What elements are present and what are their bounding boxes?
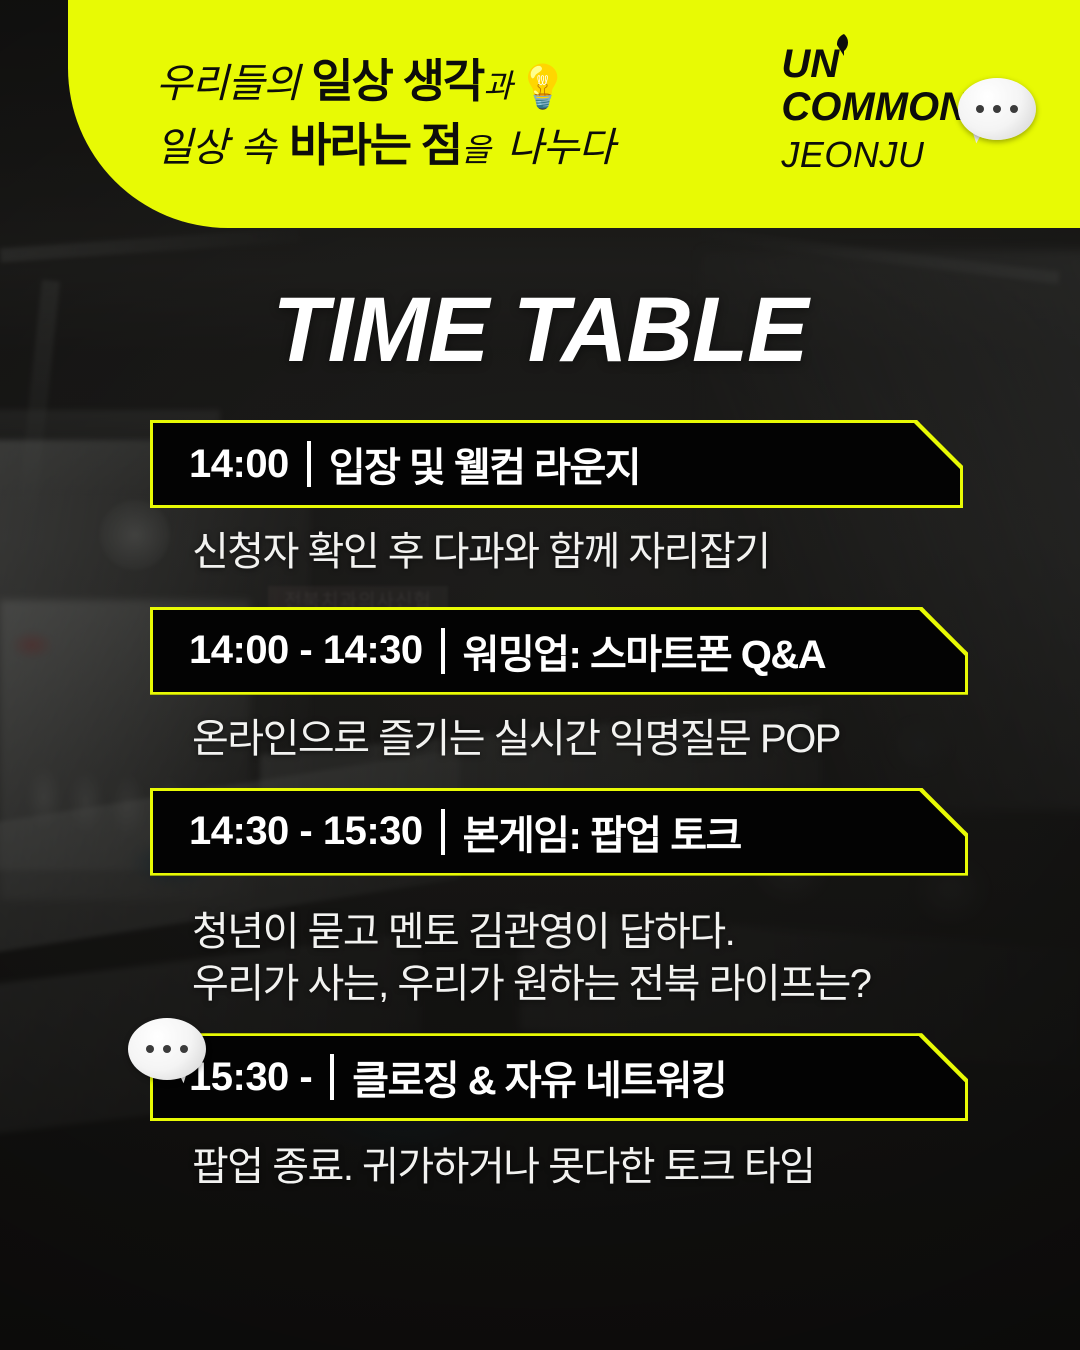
timetable-poster: 전북치과의사신협 우리들의일상 생각과💡 일상 속바라는 점을나누다 UN — [0, 0, 1080, 1350]
speech-bubble-dots — [128, 1018, 206, 1080]
logo-common-text: COMMON — [781, 84, 968, 130]
schedule-description: 팝업 종료. 귀가하거나 못다한 토크 타임 — [192, 1141, 1080, 1194]
page-title: TIME TABLE — [0, 278, 1080, 383]
comma-accent-icon — [833, 34, 855, 56]
header-panel: 우리들의일상 생각과💡 일상 속바라는 점을나누다 UN COMMON JEON… — [68, 0, 1080, 228]
schedule-item: 14:00 입장 및 웰컴 라운지 신청자 확인 후 다과와 함께 자리잡기 — [0, 420, 1080, 579]
schedule-description: 온라인으로 즐기는 실시간 익명질문 POP — [192, 713, 1080, 766]
schedule-name: 본게임: 팝업 토크 — [463, 803, 741, 861]
schedule-time: 15:30 - — [189, 1055, 312, 1100]
headline-l2-part2: 바라는 점 — [289, 119, 461, 171]
schedule-description: 청년이 묻고 멘토 김관영이 답하다. 우리가 사는, 우리가 원하는 전북 라… — [192, 906, 1080, 1012]
logo-jeonju-text: JEONJU — [781, 132, 968, 177]
headline-l2-part4: 나누다 — [507, 125, 614, 171]
schedule-time: 14:00 — [189, 442, 289, 487]
speech-bubble-dots — [958, 78, 1036, 140]
lightbulb-icon: 💡 — [517, 63, 569, 110]
schedule-description-line: 우리가 사는, 우리가 원하는 전북 라이프는? — [192, 958, 1080, 1011]
schedule-bar: 14:00 입장 및 웰컴 라운지 — [150, 420, 963, 508]
headline-l1-part1: 우리들의 — [156, 61, 299, 107]
time-name-separator — [307, 441, 311, 487]
speech-bubble-icon — [958, 78, 1036, 146]
schedule-item: 14:00 - 14:30 워밍업: 스마트폰 Q&A 온라인으로 즐기는 실시… — [0, 607, 1080, 766]
schedule-name: 클로징 & 자유 네트워킹 — [352, 1048, 726, 1106]
headline-l2-part1: 일상 속 — [156, 125, 275, 171]
schedule-time: 14:30 - 15:30 — [189, 809, 423, 854]
schedule-bar: 14:00 - 14:30 워밍업: 스마트폰 Q&A — [150, 607, 968, 695]
schedule-description-line: 청년이 묻고 멘토 김관영이 답하다. — [192, 906, 1080, 959]
schedule-time: 14:00 - 14:30 — [189, 628, 423, 673]
time-name-separator — [441, 628, 445, 674]
logo-un-row: UN — [781, 44, 839, 84]
corner-notch — [916, 1033, 968, 1085]
time-name-separator — [441, 809, 445, 855]
schedule-description: 신청자 확인 후 다과와 함께 자리잡기 — [192, 526, 1080, 579]
schedule-name: 워밍업: 스마트폰 Q&A — [463, 622, 826, 680]
speech-bubble-icon — [128, 1018, 206, 1086]
schedule-name: 입장 및 웰컴 라운지 — [329, 435, 640, 493]
corner-notch — [916, 788, 968, 840]
corner-notch — [916, 607, 968, 659]
brand-logo: UN COMMON JEONJU — [781, 44, 968, 177]
headline-l1-part2: 일상 생각 — [311, 55, 483, 107]
headline-l1-part3: 과 — [483, 67, 512, 105]
headline-l2-part3: 을 — [461, 131, 490, 169]
headline: 우리들의일상 생각과💡 일상 속바라는 점을나누다 — [156, 52, 614, 176]
time-name-separator — [330, 1054, 334, 1100]
headline-line-2: 일상 속바라는 점을나누다 — [156, 116, 614, 176]
logo-un-text: UN — [781, 42, 839, 86]
schedule-bar: 14:30 - 15:30 본게임: 팝업 토크 — [150, 788, 968, 876]
schedule-bar: 15:30 - 클로징 & 자유 네트워킹 — [150, 1033, 968, 1121]
headline-line-1: 우리들의일상 생각과💡 — [156, 52, 614, 112]
corner-notch — [911, 420, 963, 472]
schedule-item: 14:30 - 15:30 본게임: 팝업 토크 청년이 묻고 멘토 김관영이 … — [0, 788, 1080, 1012]
